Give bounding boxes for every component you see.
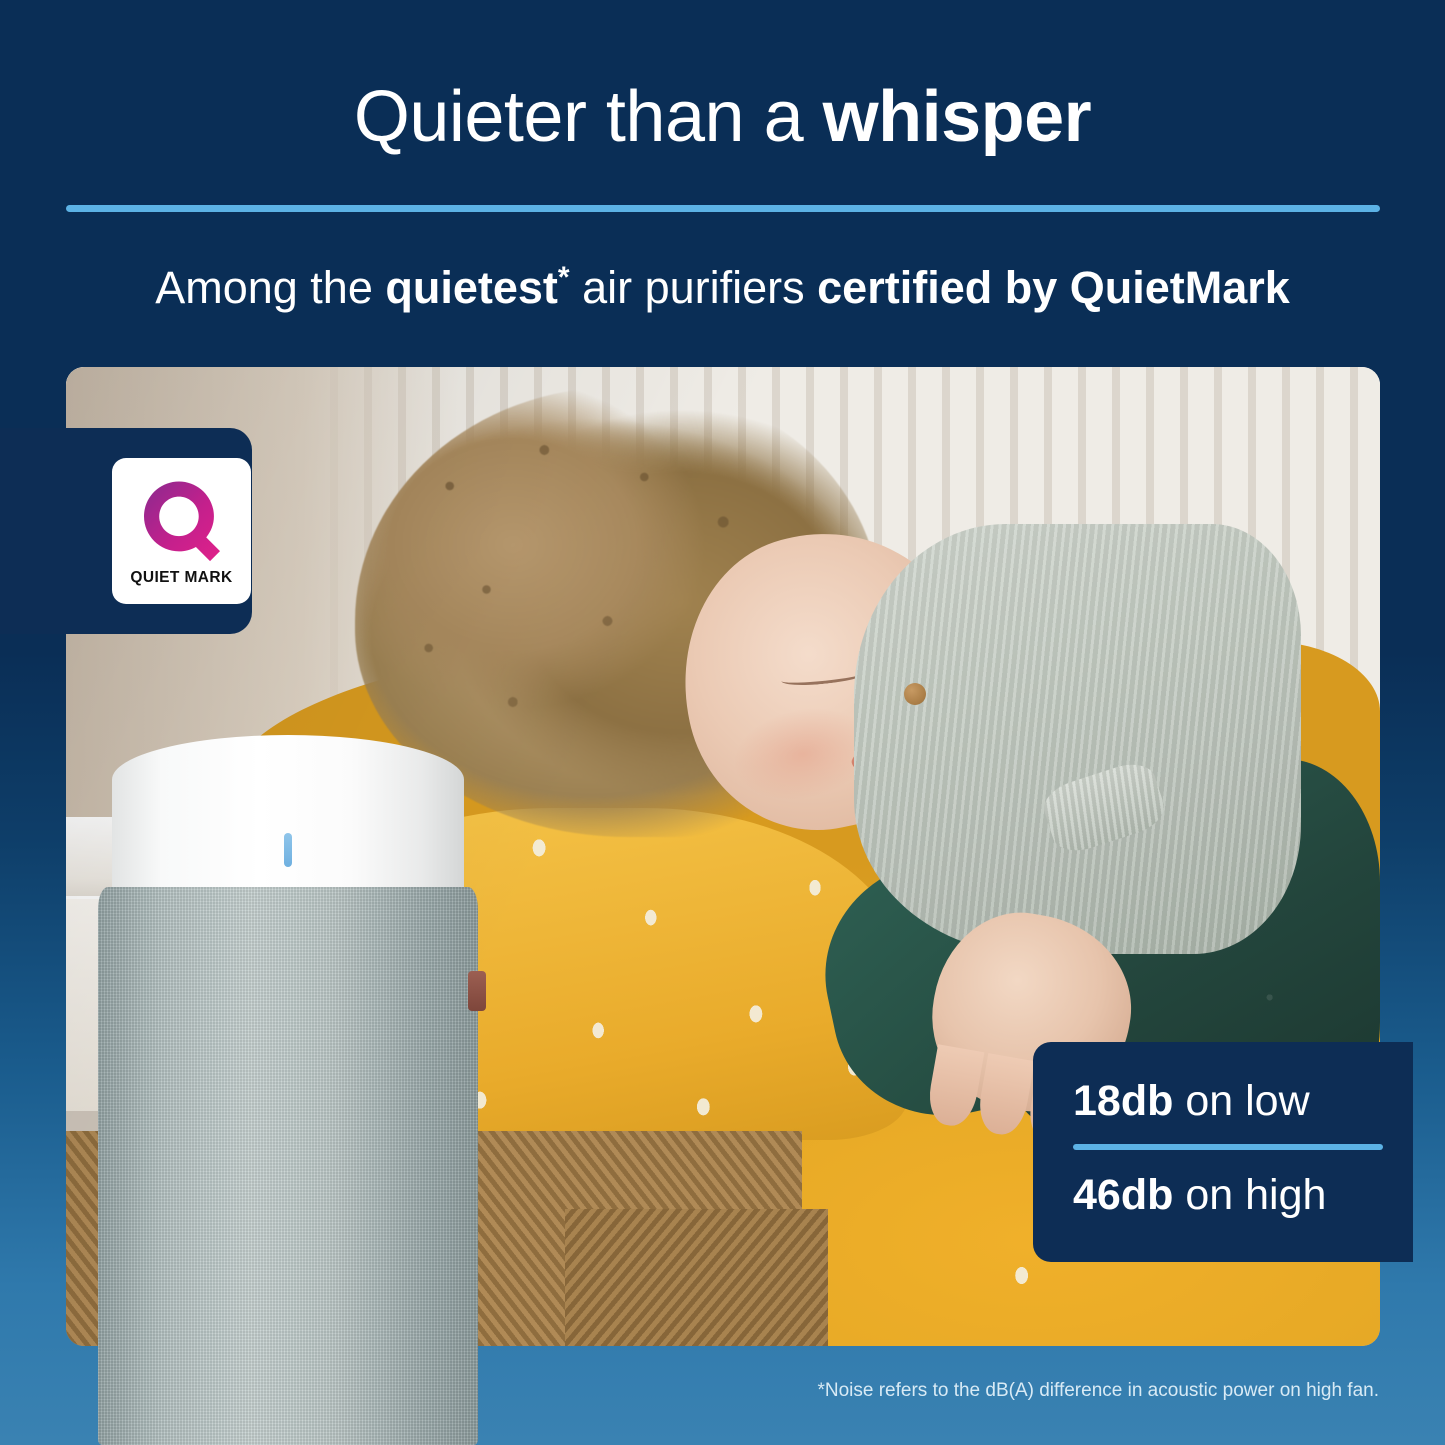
footnote-text: *Noise refers to the dB(A) difference in… <box>817 1378 1379 1404</box>
headline-bold: whisper <box>823 77 1092 157</box>
subtitle: Among the quietest* air purifiers certif… <box>0 258 1445 318</box>
subtitle-part1: Among the <box>155 262 385 313</box>
noise-low-suffix: on low <box>1173 1077 1309 1125</box>
air-purifier <box>98 735 478 1445</box>
header-divider <box>66 205 1380 212</box>
noise-callout-divider <box>1073 1144 1383 1150</box>
purifier-top-cap <box>112 735 464 895</box>
sweater-button <box>904 683 926 705</box>
quiet-mark-q-icon <box>144 481 220 567</box>
subtitle-bold-quietest: quietest <box>385 262 558 313</box>
noise-low-line: 18db on low <box>1073 1070 1381 1132</box>
subtitle-part2: air purifiers <box>570 262 818 313</box>
headline-normal: Quieter than a <box>354 77 823 157</box>
marketing-poster: Quieter than a whisper Among the quietes… <box>0 0 1445 1445</box>
noise-high-value: 46db <box>1073 1171 1173 1219</box>
quiet-mark-badge: QUIET MARK <box>112 458 251 604</box>
sweater-cuff <box>1039 757 1171 858</box>
purifier-pull-tab <box>468 971 486 1011</box>
subtitle-bold-certified: certified by QuietMark <box>817 262 1290 313</box>
power-led-indicator <box>284 833 292 867</box>
noise-high-suffix: on high <box>1173 1171 1326 1219</box>
noise-high-line: 46db on high <box>1073 1164 1381 1226</box>
woven-rug-edge <box>565 1209 828 1346</box>
subtitle-asterisk: * <box>558 261 570 294</box>
noise-callout-box: 18db on low 46db on high <box>1033 1042 1413 1262</box>
purifier-fabric-prefilter <box>98 887 478 1445</box>
child-sweater <box>854 524 1301 955</box>
page-title: Quieter than a whisper <box>0 74 1445 160</box>
noise-low-value: 18db <box>1073 1077 1173 1125</box>
quiet-mark-label: QUIET MARK <box>130 569 232 587</box>
